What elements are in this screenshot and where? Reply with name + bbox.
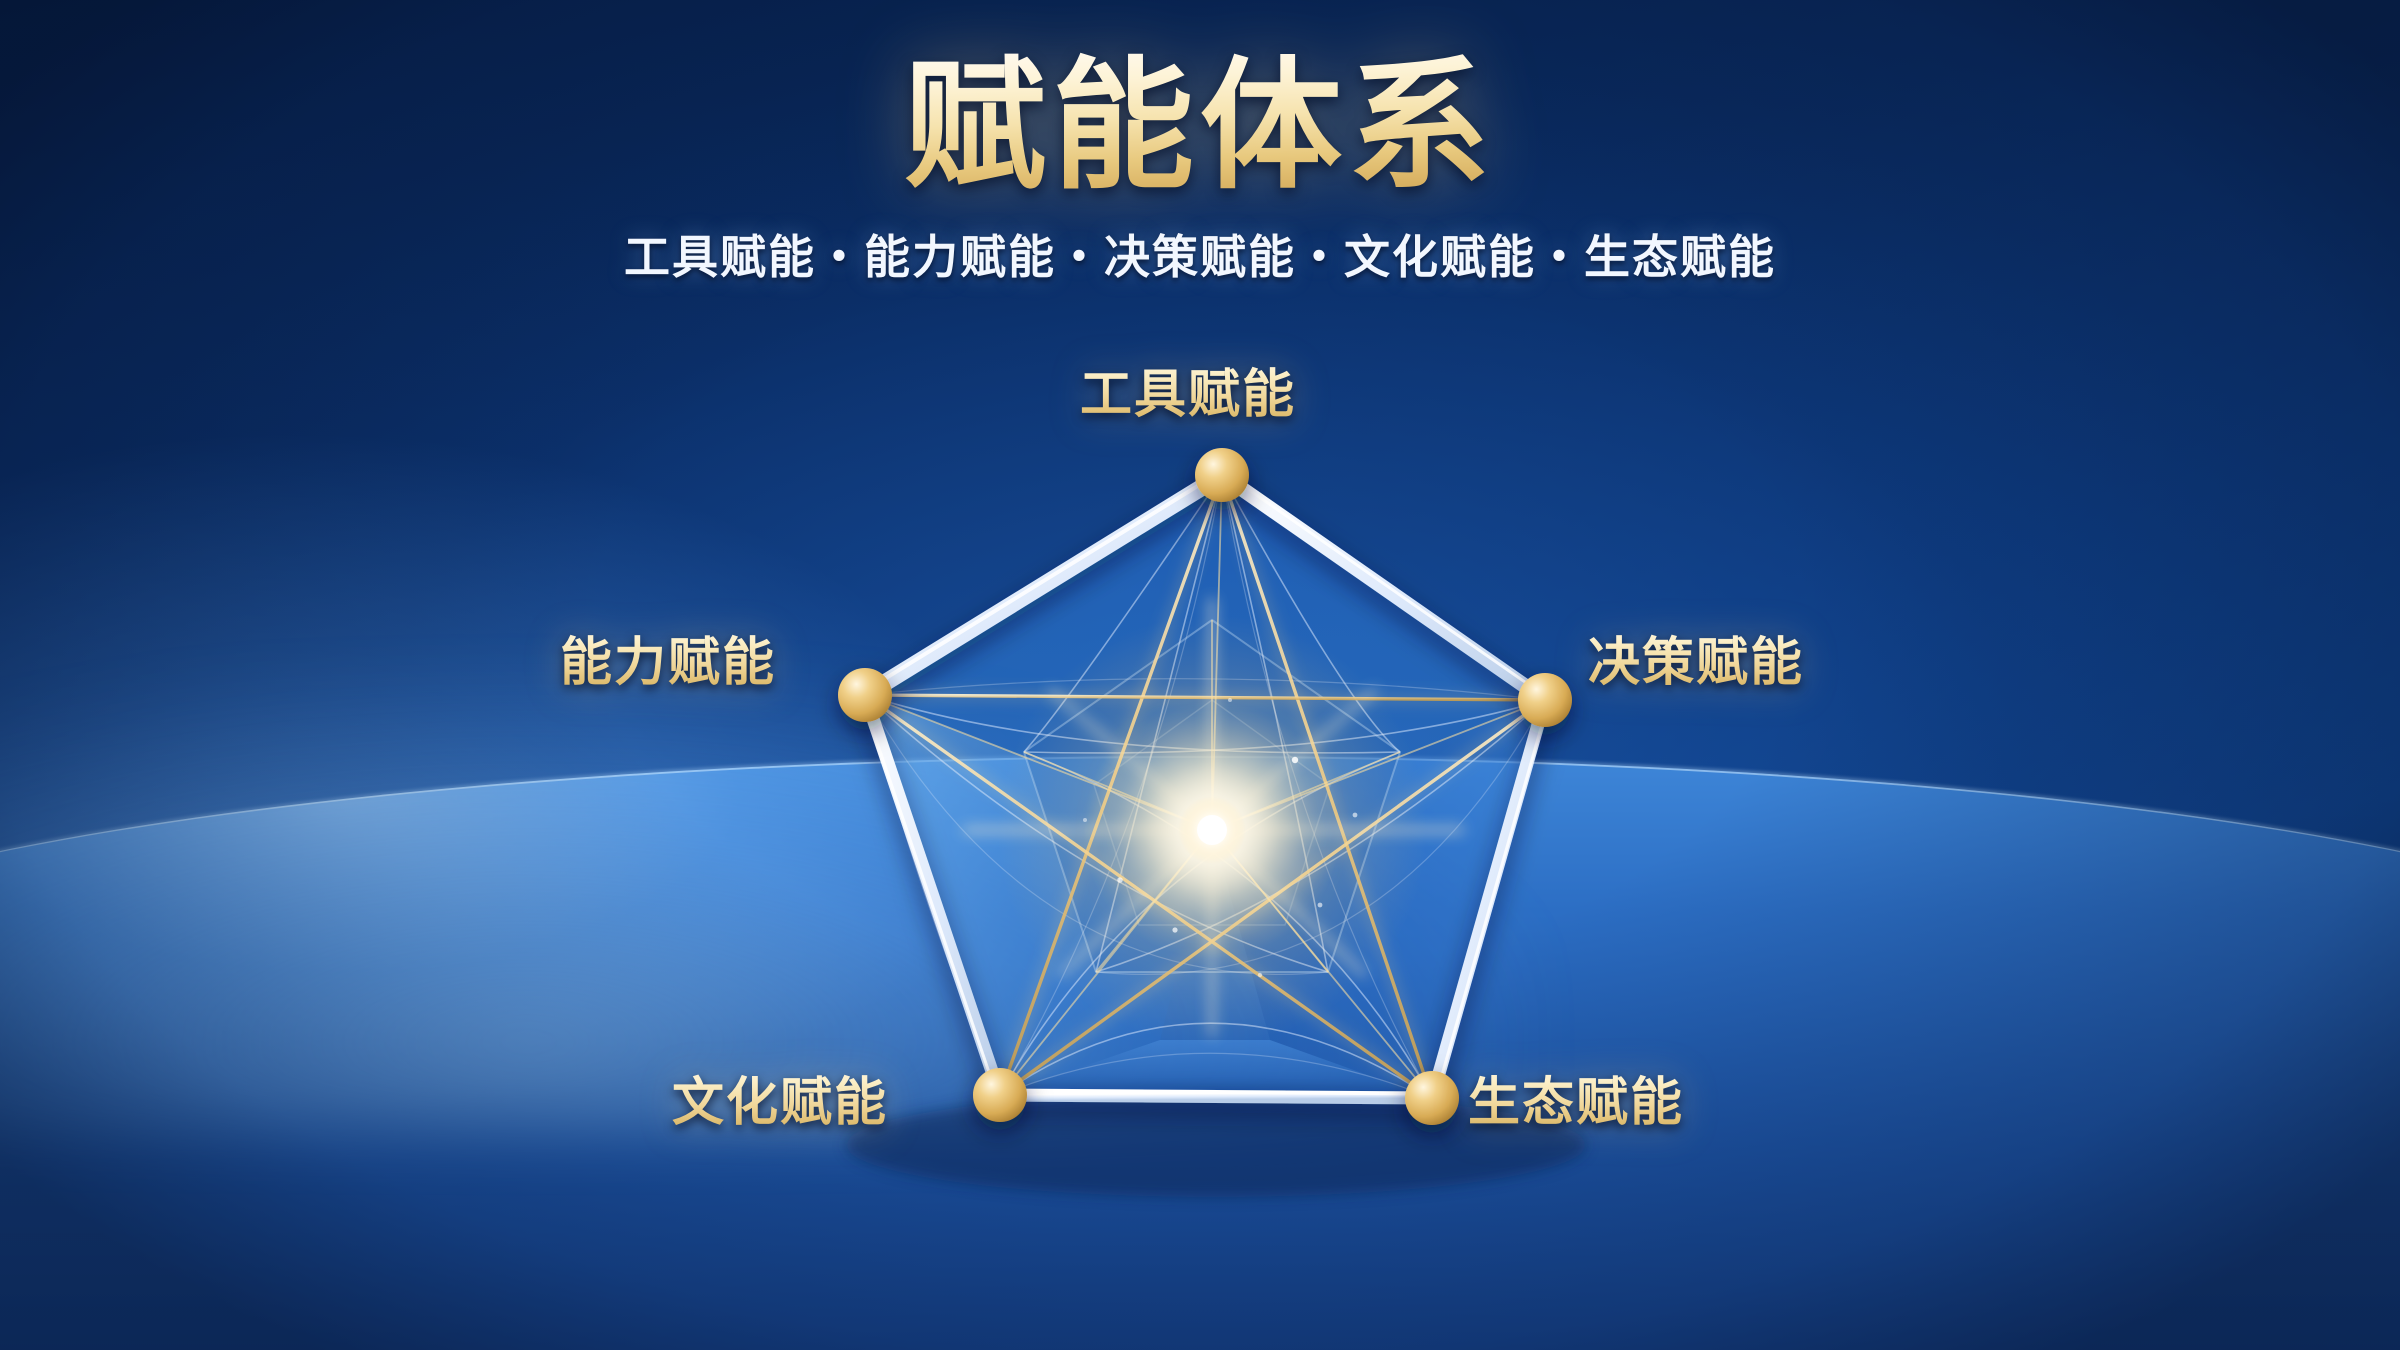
node-decide bbox=[1518, 673, 1572, 727]
vertex-label-eco[interactable]: 生态赋能 bbox=[1468, 1060, 1684, 1135]
vertex-label-decide[interactable]: 决策赋能 bbox=[1588, 620, 1804, 695]
poster-stage: 赋能体系 工具赋能・能力赋能・决策赋能・文化赋能・生态赋能 工具赋能 能力赋能 … bbox=[0, 0, 2400, 1350]
vertex-label-tool[interactable]: 工具赋能 bbox=[1080, 352, 1296, 427]
node-ability bbox=[838, 668, 892, 722]
vertex-label-culture[interactable]: 文化赋能 bbox=[672, 1060, 888, 1135]
node-eco bbox=[1405, 1071, 1459, 1125]
header-block: 赋能体系 工具赋能・能力赋能・决策赋能・文化赋能・生态赋能 bbox=[0, 52, 2400, 287]
vertex-label-ability[interactable]: 能力赋能 bbox=[560, 620, 776, 695]
beam-culture-eco bbox=[1000, 1095, 1432, 1098]
page-subtitle: 工具赋能・能力赋能・决策赋能・文化赋能・生态赋能 bbox=[0, 221, 2400, 287]
node-tool bbox=[1195, 448, 1249, 502]
page-title: 赋能体系 bbox=[904, 52, 1496, 203]
node-culture bbox=[973, 1068, 1027, 1122]
